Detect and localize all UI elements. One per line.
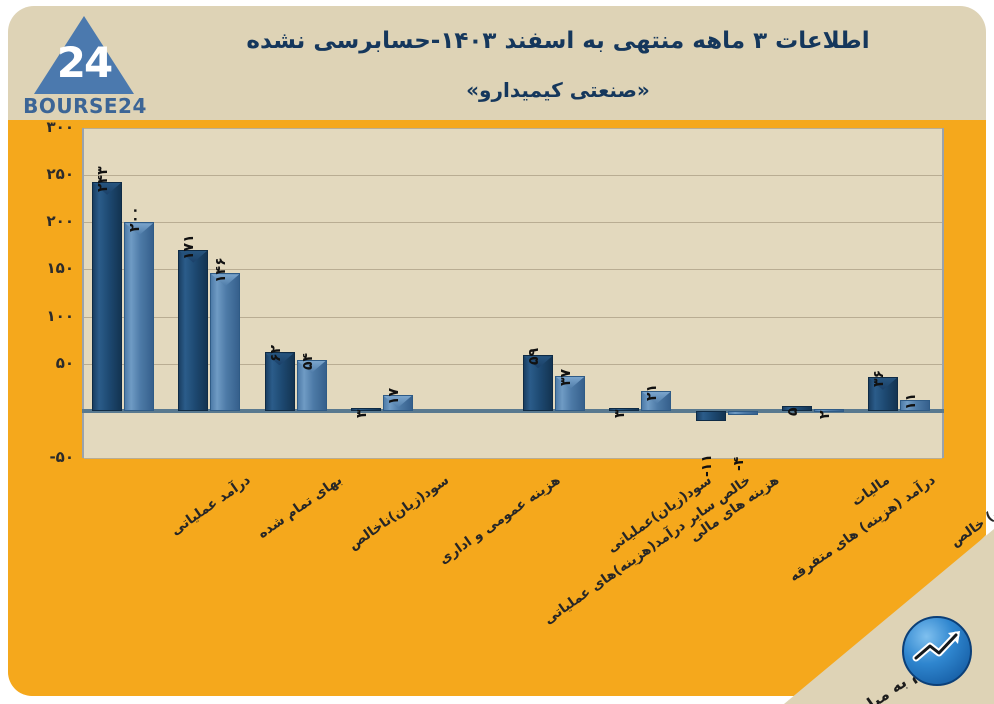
bar-value-label: ۱۴۶ [213, 258, 229, 284]
bar-series-1-0[interactable] [92, 182, 122, 411]
bar-series-2-0[interactable] [124, 222, 154, 411]
y-axis-tick-label: ۲۰۰ [4, 212, 74, 230]
bourse24-round-logo [902, 616, 972, 686]
gridline [84, 458, 942, 459]
gridline [84, 222, 942, 223]
y-axis-tick-label: ۳۰۰ [4, 118, 74, 136]
bar-value-label: ۲ [817, 410, 833, 419]
arrow-chart-icon [908, 618, 970, 680]
bar-value-label: ۳۷ [558, 369, 574, 386]
y-axis-tick-label: ۱۵۰ [4, 259, 74, 277]
bar-series-1-7[interactable] [696, 411, 726, 421]
y-axis-tick-label: -۵۰ [4, 448, 74, 466]
bourse24-logo: 24 BOURSE24 [20, 14, 150, 120]
chart-screenshot: 24 BOURSE24 اطلاعات ۳ ماهه منتهی به اسفن… [0, 0, 994, 704]
bar-value-label: ۶۲ [268, 345, 284, 362]
logo-number: 24 [34, 40, 134, 86]
bar-value-label: ۳۶ [871, 370, 887, 387]
bar-value-label: ۳ [354, 409, 370, 418]
bar-series-1-1[interactable] [178, 250, 208, 411]
logo-wordmark: BOURSE24 [20, 94, 150, 118]
bar-value-label: ۳ [612, 409, 628, 418]
y-axis-tick-label: ۱۰۰ [4, 307, 74, 325]
gridline [84, 128, 942, 129]
gridline [84, 175, 942, 176]
y-axis-tick-label: ۵۰ [4, 354, 74, 372]
bar-value-label: ۱۷ [386, 388, 402, 405]
bar-value-label: ۲۴۳ [95, 166, 111, 192]
bar-value-label: ۲۱ [644, 384, 660, 401]
bar-value-label: ۲۰۰ [127, 207, 143, 233]
bar-value-label: ۵۴ [300, 353, 316, 370]
bar-value-label: ۵۹ [526, 348, 542, 365]
bar-series-2-7[interactable] [728, 411, 758, 415]
page-title: اطلاعات ۳ ماهه منتهی به اسفند ۱۴۰۳-حسابر… [158, 28, 958, 54]
page-subtitle: «صنعتی کیمیدارو» [158, 78, 958, 102]
bar-value-label: ۱۱ [903, 393, 919, 410]
plot-area [82, 128, 944, 458]
bar-value-label: ۵ [785, 408, 801, 417]
bar-value-label: -۴ [731, 456, 747, 470]
chart-header: 24 BOURSE24 اطلاعات ۳ ماهه منتهی به اسفن… [8, 6, 986, 124]
bar-value-label: ۱۷۱ [181, 234, 197, 260]
bar-series-2-1[interactable] [210, 273, 240, 411]
y-axis-tick-label: ۲۵۰ [4, 165, 74, 183]
